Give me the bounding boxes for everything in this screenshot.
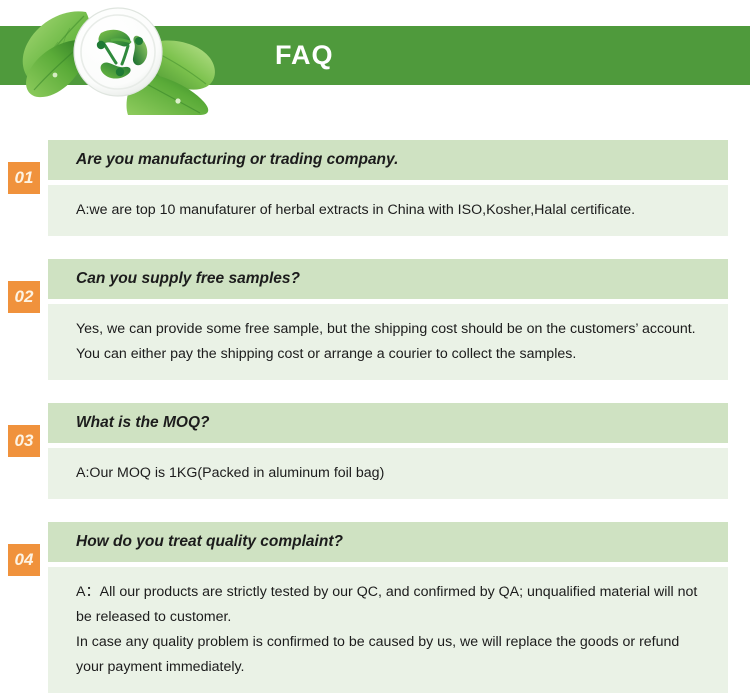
faq-answer-line: A：All our products are strictly tested b… (76, 580, 706, 630)
faq-list: 01 Are you manufacturing or trading comp… (0, 115, 750, 693)
faq-number-badge: 04 (8, 544, 40, 576)
faq-answer: Yes, we can provide some free sample, bu… (48, 304, 728, 380)
page-header: FAQ (0, 0, 750, 115)
faq-question: Can you supply free samples? (48, 259, 728, 299)
faq-answer-line: A:Our MOQ is 1KG(Packed in aluminum foil… (76, 461, 706, 486)
faq-answer-line: A:we are top 10 manufaturer of herbal ex… (76, 198, 706, 223)
faq-number-badge: 02 (8, 281, 40, 313)
page-title: FAQ (275, 38, 334, 72)
faq-question: What is the MOQ? (48, 403, 728, 443)
faq-answer-line: In case any quality problem is confirmed… (76, 630, 706, 680)
faq-answer: A:we are top 10 manufaturer of herbal ex… (48, 185, 728, 236)
faq-answer: A:Our MOQ is 1KG(Packed in aluminum foil… (48, 448, 728, 499)
faq-item: 04 How do you treat quality complaint? A… (0, 522, 750, 693)
faq-number-badge: 01 (8, 162, 40, 194)
faq-question: How do you treat quality complaint? (48, 522, 728, 562)
faq-item: 03 What is the MOQ? A:Our MOQ is 1KG(Pac… (0, 403, 750, 499)
logo-circle (74, 8, 162, 96)
faq-question: Are you manufacturing or trading company… (48, 140, 728, 180)
faq-answer-line: Yes, we can provide some free sample, bu… (76, 317, 706, 367)
faq-answer: A：All our products are strictly tested b… (48, 567, 728, 693)
company-leaf-logo (8, 0, 223, 115)
faq-number-badge: 03 (8, 425, 40, 457)
faq-item: 02 Can you supply free samples? Yes, we … (0, 259, 750, 380)
faq-item: 01 Are you manufacturing or trading comp… (0, 140, 750, 236)
